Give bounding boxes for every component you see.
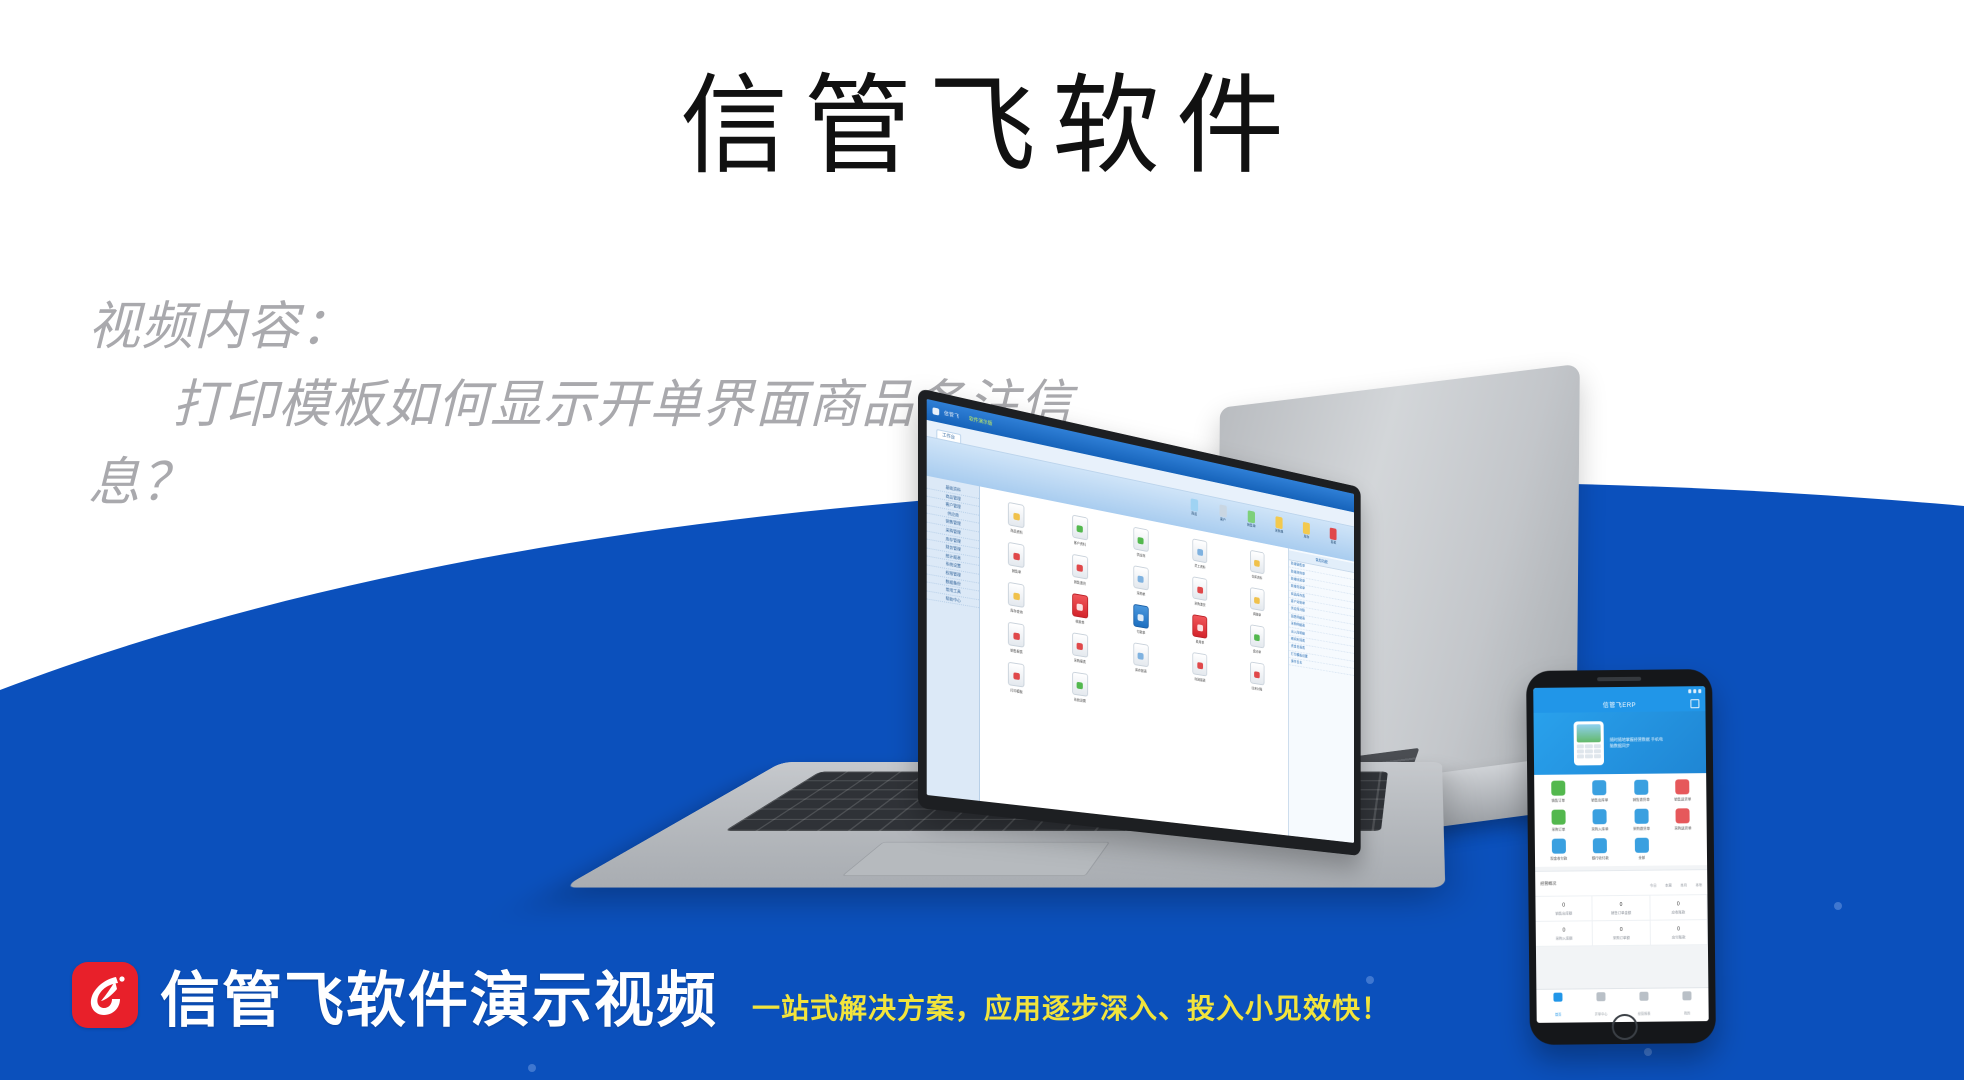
- overview-header: 经营概况 今日 本周 本月 本年: [1535, 870, 1707, 897]
- software-app-name: 信管飞: [944, 410, 959, 420]
- toolbar-label-1: 客户: [1216, 516, 1229, 523]
- module-icon: [1592, 780, 1606, 795]
- phone-grid-item-10[interactable]: 全部: [1622, 838, 1662, 860]
- phone-grid-item-3[interactable]: 销售送货单: [1663, 779, 1703, 801]
- toolbar-label-3: 采购单: [1273, 528, 1286, 535]
- toolbar-item-5[interactable]: 报表: [1327, 527, 1339, 546]
- module-label: 销售退货单: [1621, 797, 1661, 802]
- software-subtitle: 软件演示版: [969, 415, 992, 427]
- software-grid-item-3[interactable]: 员工资料: [1172, 534, 1227, 573]
- module-icon: [1593, 809, 1607, 824]
- module-icon: [1250, 661, 1264, 685]
- software-grid-item-15[interactable]: 销售报表: [986, 618, 1047, 658]
- module-icon: [1008, 622, 1025, 648]
- phone-icon-grid[interactable]: 销售订单销售出库单销售退货单销售送货单采购订单采购入库单采购退货单采购送货单现金…: [1534, 773, 1707, 867]
- software-grid-item-14[interactable]: 盘点单: [1230, 621, 1283, 658]
- banner-image: [1577, 724, 1601, 742]
- module-icon: [1133, 642, 1148, 667]
- brand-group: 信管飞软件演示视频 一站式解决方案，应用逐步深入、投入小见效快！: [72, 952, 1390, 1039]
- software-grid-item-5[interactable]: 销售单: [986, 538, 1047, 579]
- module-label: 采购入库单: [1580, 826, 1620, 831]
- overview-title: 经营概况: [1540, 881, 1556, 887]
- toolbar-item-3[interactable]: 采购单: [1273, 515, 1286, 535]
- module-icon: [1193, 538, 1208, 563]
- module-icon: [1008, 542, 1025, 568]
- stat-value: 0: [1593, 902, 1649, 909]
- module-icon: [1634, 809, 1648, 824]
- toolbar-item-2[interactable]: 销售单: [1245, 510, 1258, 530]
- module-icon: [1250, 587, 1264, 611]
- module-label: 销售出库单: [1580, 797, 1620, 802]
- module-icon: [1676, 808, 1690, 823]
- module-label: 现金收付款: [1539, 855, 1579, 860]
- software-grid-item-13[interactable]: 费用单: [1172, 611, 1227, 649]
- phone-grid-item-4[interactable]: 采购订单: [1539, 809, 1579, 831]
- banner-device-illustration: [1574, 721, 1604, 765]
- module-label: 采购订单: [1539, 826, 1579, 831]
- software-grid-item-4[interactable]: 仓库资料: [1230, 546, 1283, 584]
- phone-banner: 随时随地掌握经营数据 手机电脑数据同步: [1533, 711, 1706, 775]
- module-icon: [1072, 514, 1088, 540]
- software-grid-item-21[interactable]: 系统设置: [1050, 668, 1109, 706]
- module-icon: [1675, 779, 1689, 794]
- phone-grid-item-5[interactable]: 采购入库单: [1580, 809, 1620, 831]
- menu-icon[interactable]: [1690, 699, 1699, 708]
- sales-order-icon: [1248, 510, 1255, 523]
- purchase-order-icon: [1276, 516, 1283, 529]
- module-label: 银行收付款: [1580, 855, 1620, 860]
- module-icon: [1250, 550, 1264, 575]
- report-icon: [1330, 527, 1337, 540]
- phone-banner-text: 随时随地掌握经营数据 手机电脑数据同步: [1610, 736, 1666, 749]
- filter-today[interactable]: 今日: [1650, 884, 1657, 888]
- software-grid-item-12[interactable]: 付款单: [1112, 600, 1169, 639]
- filter-year[interactable]: 本年: [1695, 883, 1702, 887]
- stat-value: 0: [1535, 902, 1591, 909]
- wifi-icon: [1693, 689, 1696, 693]
- phone-grid-item-1[interactable]: 销售出库单: [1580, 780, 1620, 802]
- module-icon: [1133, 565, 1148, 590]
- module-icon: [1250, 624, 1264, 648]
- module-icon: [1072, 672, 1088, 697]
- phone-app-title: 信管飞ERP: [1603, 699, 1636, 708]
- module-label: 销售送货单: [1663, 796, 1703, 801]
- software-grid-item-6[interactable]: 销售退货: [1050, 550, 1109, 590]
- software-main-panel: 商品资料客户资料供应商员工资料仓库资料销售单销售退货采购单采购退货调拨单库存查询…: [980, 487, 1288, 836]
- software-grid-item-1[interactable]: 客户资料: [1050, 510, 1109, 551]
- software-grid-item-18[interactable]: 利润报表: [1172, 649, 1227, 686]
- overview-filters[interactable]: 今日 本周 本月 本年: [1646, 873, 1703, 892]
- module-icon: [1008, 502, 1025, 529]
- module-icon: [1634, 780, 1648, 795]
- phone-grid-item-2[interactable]: 销售退货单: [1621, 780, 1661, 802]
- phone-grid-item-8[interactable]: 现金收付款: [1539, 838, 1579, 860]
- phone-grid-item-6[interactable]: 采购退货单: [1621, 809, 1661, 831]
- presentation-slide: 信管飞软件 视频内容： 打印模板如何显示开单界面商品备注信息？ 信管飞 软件演示…: [0, 0, 1964, 1080]
- goods-icon: [1190, 498, 1197, 512]
- signal-icon: [1688, 689, 1691, 693]
- software-sidebar[interactable]: 基础资料商品管理客户管理供应商销售管理采购管理库存管理财务管理统计报表系统设置权…: [927, 476, 980, 801]
- stat-value: 0: [1650, 901, 1706, 908]
- phone-app-header: 信管飞ERP: [1533, 695, 1705, 713]
- module-icon: [1008, 662, 1025, 688]
- phone-grid-item-0[interactable]: 销售订单: [1538, 780, 1578, 802]
- module-icon: [1193, 576, 1208, 601]
- app-logo-icon: [932, 407, 939, 415]
- module-icon: [1635, 838, 1649, 853]
- toolbar-item-4[interactable]: 库存: [1300, 521, 1312, 541]
- software-grid-item-20[interactable]: 打印模板: [986, 658, 1047, 697]
- module-label: 采购退货单: [1622, 826, 1662, 831]
- software-grid-item-19[interactable]: 往来对账: [1230, 658, 1283, 695]
- module-icon: [1008, 582, 1025, 608]
- software-grid-item-10[interactable]: 库存查询: [986, 578, 1047, 619]
- banner-keys: [1577, 744, 1601, 758]
- module-icon: [1551, 810, 1565, 825]
- software-grid-item-2[interactable]: 供应商: [1112, 523, 1169, 563]
- module-icon: [1133, 604, 1148, 629]
- page-title: 信管飞软件: [0, 62, 1964, 194]
- module-icon: [1193, 652, 1208, 677]
- software-right-panel[interactable]: 常用功能 新增销售单新增采购单新增收款单新增付款单商品库存表客户对账单供应商对账…: [1288, 548, 1354, 843]
- software-grid-item-7[interactable]: 采购单: [1112, 561, 1169, 600]
- toolbar-label-2: 销售单: [1245, 522, 1258, 529]
- phone-grid-item-9[interactable]: 银行收付款: [1580, 838, 1620, 860]
- software-grid-item-8[interactable]: 采购退货: [1172, 573, 1227, 612]
- module-icon: [1593, 838, 1607, 853]
- phone-grid-item-7[interactable]: 采购送货单: [1663, 808, 1703, 830]
- module-icon: [1552, 839, 1566, 854]
- software-grid-item-17[interactable]: 库存报表: [1112, 639, 1169, 677]
- customer-icon: [1219, 504, 1226, 517]
- brand-name: 信管飞软件演示视频: [160, 952, 718, 1039]
- module-label: 采购送货单: [1663, 825, 1703, 830]
- device-showcase: 信管飞 软件演示版 工作台 商品 客户 销售单 采购单 库存 报表 基础资料商品…: [900, 370, 1964, 970]
- software-grid-item-9[interactable]: 调拨单: [1230, 583, 1283, 621]
- toolbar-label-5: 报表: [1327, 539, 1339, 546]
- video-content-label: 视频内容：: [88, 288, 1108, 366]
- inventory-icon: [1303, 522, 1310, 535]
- filter-week[interactable]: 本周: [1665, 883, 1672, 887]
- toolbar-label-4: 库存: [1300, 534, 1312, 541]
- toolbar-item-0[interactable]: 商品: [1187, 497, 1200, 517]
- module-icon: [1072, 593, 1088, 619]
- module-icon: [1072, 632, 1088, 657]
- module-icon: [1551, 781, 1565, 796]
- toolbar-label-0: 商品: [1187, 510, 1200, 517]
- module-icon: [1133, 527, 1148, 553]
- filter-month[interactable]: 本月: [1680, 883, 1687, 887]
- brand-tagline: 一站式解决方案，应用逐步深入、投入小见效快！: [752, 987, 1390, 1027]
- toolbar-item-1[interactable]: 客户: [1216, 504, 1229, 524]
- right-panel-rows[interactable]: 新增销售单新增采购单新增收款单新增付款单商品库存表客户对账单供应商对账销售明细表…: [1289, 560, 1354, 676]
- module-label: 全部: [1622, 855, 1662, 860]
- battery-icon: [1698, 689, 1701, 693]
- software-grid-item-0[interactable]: 商品资料: [986, 497, 1047, 539]
- software-grid-item-16[interactable]: 采购报表: [1050, 629, 1109, 668]
- brand-bar: 信管飞软件演示视频 一站式解决方案，应用逐步深入、投入小见效快！: [0, 910, 1964, 1080]
- module-label: 销售订单: [1538, 797, 1578, 802]
- module-icon: [1193, 614, 1208, 639]
- software-grid-item-11[interactable]: 收款单: [1050, 589, 1109, 629]
- feiyi-bird-logo-icon: [72, 962, 138, 1028]
- laptop-trackpad: [841, 842, 1109, 876]
- module-icon: [1072, 554, 1088, 580]
